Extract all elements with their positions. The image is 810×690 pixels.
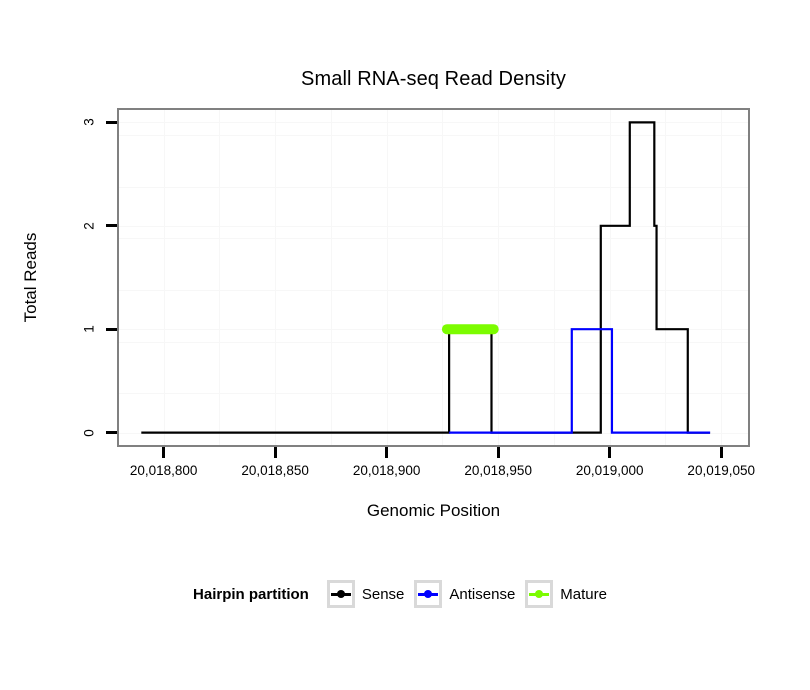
legend-entry-mature[interactable]: Mature	[525, 580, 607, 608]
x-tick-label: 20,018,950	[464, 463, 532, 478]
legend-key-icon	[414, 580, 442, 608]
legend-label: Sense	[362, 586, 405, 603]
x-tick-mark	[162, 447, 165, 458]
x-tick-mark	[720, 447, 723, 458]
x-tick-label: 20,018,850	[241, 463, 309, 478]
y-tick-label: 0	[82, 426, 97, 440]
legend-key-icon	[525, 580, 553, 608]
x-tick-mark	[608, 447, 611, 458]
legend-label: Mature	[560, 586, 607, 603]
series-line-sense	[141, 122, 710, 432]
y-tick-mark	[106, 431, 117, 434]
data-series-layer	[119, 110, 748, 445]
y-tick-label: 3	[82, 115, 97, 129]
legend-entry-sense[interactable]: Sense	[327, 580, 405, 608]
y-tick-label: 1	[82, 322, 97, 336]
legend-entry-antisense[interactable]: Antisense	[414, 580, 515, 608]
series-line-antisense	[449, 329, 710, 432]
legend-key-dot	[535, 590, 543, 598]
plot-panel	[117, 108, 750, 447]
legend-key-icon	[327, 580, 355, 608]
y-tick-mark	[106, 328, 117, 331]
x-tick-label: 20,018,900	[353, 463, 421, 478]
x-tick-mark	[385, 447, 388, 458]
legend-title: Hairpin partition	[193, 586, 309, 603]
y-tick-mark	[106, 224, 117, 227]
page-title: Small RNA-seq Read Density	[117, 68, 750, 91]
x-tick-label: 20,019,000	[576, 463, 644, 478]
legend-key-dot	[424, 590, 432, 598]
chart-figure: Small RNA-seq Read Density Total Reads G…	[0, 0, 810, 690]
x-axis-title: Genomic Position	[117, 501, 750, 521]
y-tick-mark	[106, 121, 117, 124]
legend: Hairpin partition SenseAntisenseMature	[0, 580, 810, 608]
legend-key-dot	[337, 590, 345, 598]
x-tick-label: 20,019,050	[687, 463, 755, 478]
y-axis-title: Total Reads	[20, 108, 42, 447]
y-tick-label: 2	[82, 219, 97, 233]
x-tick-label: 20,018,800	[130, 463, 198, 478]
x-tick-mark	[274, 447, 277, 458]
legend-label: Antisense	[449, 586, 515, 603]
x-tick-mark	[497, 447, 500, 458]
